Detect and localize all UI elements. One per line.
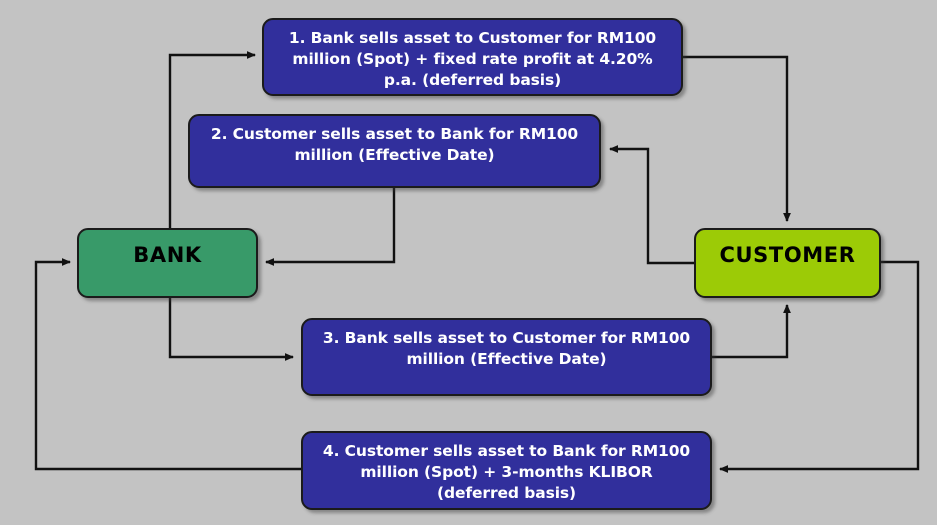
step-4-label: 4. Customer sells asset to Bank for RM10…	[303, 433, 710, 504]
step-2-label: 2. Customer sells asset to Bank for RM10…	[190, 116, 599, 166]
step-2-box[interactable]: 2. Customer sells asset to Bank for RM10…	[188, 114, 601, 188]
step-3-to-customer-connector	[712, 305, 787, 357]
customer-to-step-2-connector	[610, 149, 694, 263]
step-1-to-customer-connector	[683, 57, 787, 221]
bank-node[interactable]: BANK	[77, 228, 258, 298]
step-1-box[interactable]: 1. Bank sells asset to Customer for RM10…	[262, 18, 683, 96]
customer-node[interactable]: CUSTOMER	[694, 228, 881, 298]
customer-label: CUSTOMER	[696, 230, 879, 267]
bank-to-step-3-connector	[170, 298, 293, 357]
diagram-canvas: 1. Bank sells asset to Customer for RM10…	[0, 0, 937, 525]
bank-label: BANK	[79, 230, 256, 267]
step-1-label: 1. Bank sells asset to Customer for RM10…	[264, 20, 681, 91]
step-2-to-bank-connector	[266, 188, 394, 262]
step-3-label: 3. Bank sells asset to Customer for RM10…	[303, 320, 710, 370]
step-3-box[interactable]: 3. Bank sells asset to Customer for RM10…	[301, 318, 712, 396]
step-4-box[interactable]: 4. Customer sells asset to Bank for RM10…	[301, 431, 712, 510]
